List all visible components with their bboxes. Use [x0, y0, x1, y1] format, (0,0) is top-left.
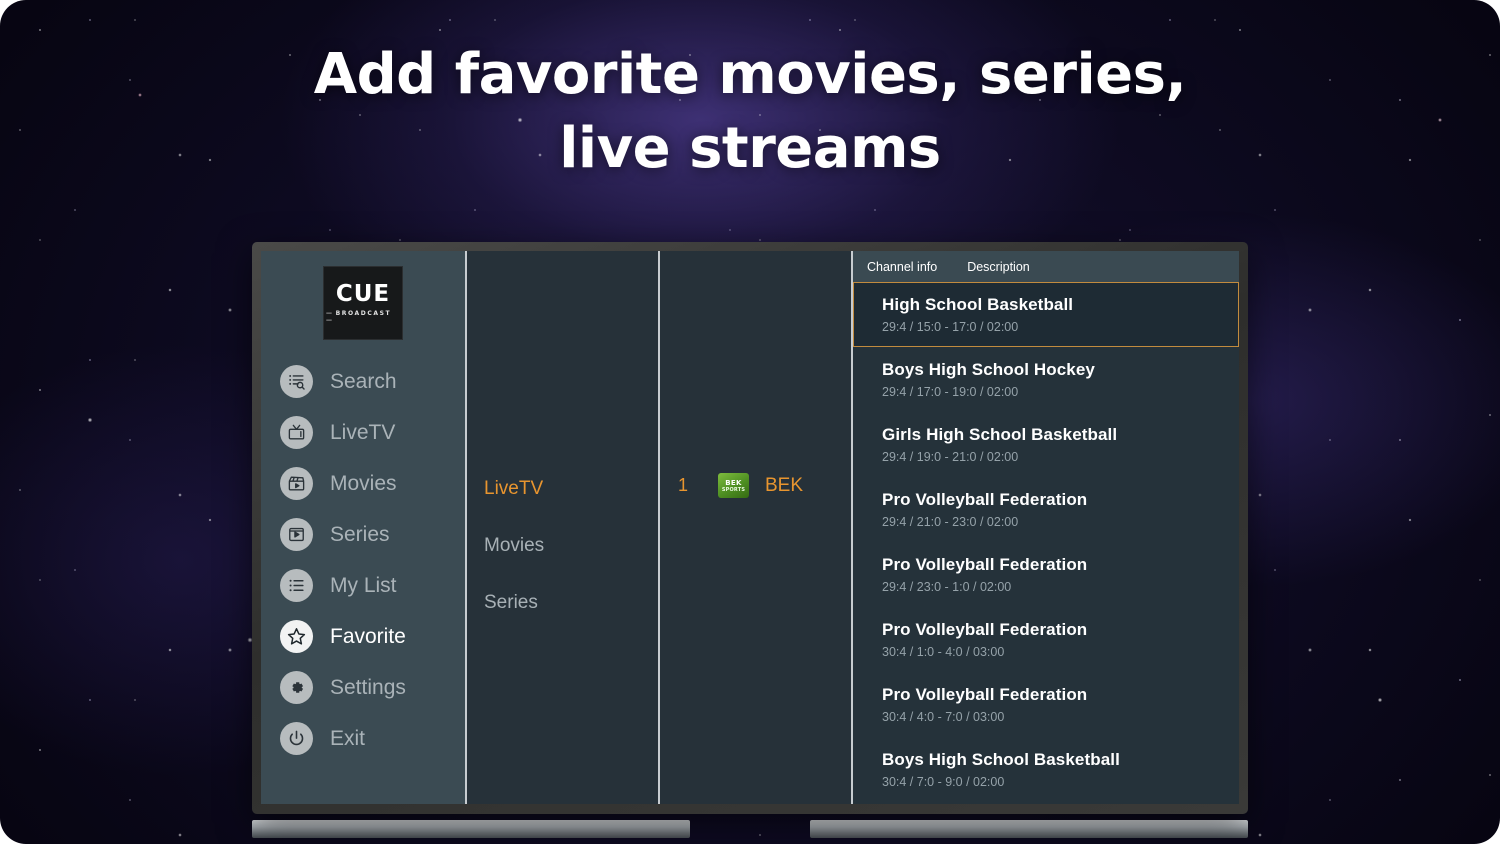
epg-program-title: Boys High School Hockey — [882, 360, 1238, 380]
category-column: LiveTV Movies Series — [467, 251, 660, 804]
epg-program-title: Pro Volleyball Federation — [882, 490, 1238, 510]
epg-program-list[interactable]: High School Basketball 29:4 / 15:0 - 17:… — [853, 282, 1239, 804]
epg-program-row[interactable]: Boys High School Basketball 30:4 / 7:0 -… — [853, 737, 1239, 802]
tab-description[interactable]: Description — [967, 260, 1030, 274]
star-icon — [280, 620, 313, 653]
headline-line-1: Add favorite movies, series, — [0, 38, 1500, 112]
epg-program-times: 29:4 / 21:0 - 23:0 / 02:00 — [882, 515, 1238, 529]
epg-program-times: 29:4 / 15:0 - 17:0 / 02:00 — [882, 320, 1238, 334]
play-box-icon — [280, 518, 313, 551]
sidebar-item-label: Search — [330, 370, 397, 394]
epg-program-times: 30:4 / 7:0 - 9:0 / 02:00 — [882, 775, 1238, 789]
epg-program-title: High School Basketball — [882, 295, 1238, 315]
epg-program-title: Pro Volleyball Federation — [882, 620, 1238, 640]
epg-program-row[interactable]: High School Basketball 29:4 / 15:0 - 17:… — [853, 282, 1239, 347]
sidebar-item-label: Series — [330, 523, 390, 547]
sidebar-item-favorite[interactable]: Favorite — [261, 611, 465, 662]
epg-program-title: Pro Volleyball Federation — [882, 685, 1238, 705]
epg-program-title: Girls High School Basketball — [882, 425, 1238, 445]
channel-row[interactable]: 1 BEK SPORTS BEK — [660, 473, 851, 498]
category-label: LiveTV — [484, 478, 543, 499]
category-label: Series — [484, 592, 538, 613]
epg-program-row[interactable]: Pro Volleyball Federation 30:4 / 4:0 - 7… — [853, 672, 1239, 737]
app-logo: CUE BROADCAST — [323, 266, 403, 340]
channel-logo-line-2: SPORTS — [722, 487, 745, 493]
tv-device: CUE BROADCAST — [252, 242, 1248, 814]
sidebar-item-label: Favorite — [330, 625, 406, 649]
logo-brand-text: CUE — [336, 283, 390, 306]
epg-program-row[interactable]: Girls High School Basketball 29:4 / 19:0… — [853, 412, 1239, 477]
tv-stand-right — [810, 820, 1248, 838]
epg-program-row[interactable]: Pro Volleyball Federation 30:4 / 1:0 - 4… — [853, 607, 1239, 672]
channel-logo-line-1: BEK — [725, 479, 741, 487]
channel-column: 1 BEK SPORTS BEK — [660, 251, 853, 804]
sidebar-item-movies[interactable]: Movies — [261, 458, 465, 509]
epg-program-times: 29:4 / 23:0 - 1:0 / 02:00 — [882, 580, 1238, 594]
category-item-movies[interactable]: Movies — [484, 535, 544, 557]
category-label: Movies — [484, 535, 544, 556]
sidebar-item-livetv[interactable]: LiveTV — [261, 407, 465, 458]
tv-screen: CUE BROADCAST — [261, 251, 1239, 804]
sidebar-item-my-list[interactable]: My List — [261, 560, 465, 611]
sidebar-item-label: LiveTV — [330, 421, 395, 445]
headline-line-2: live streams — [0, 112, 1500, 186]
sidebar-item-label: Settings — [330, 676, 406, 700]
sidebar-item-label: Exit — [330, 727, 365, 751]
channel-logo: BEK SPORTS — [718, 473, 749, 498]
gear-icon — [280, 671, 313, 704]
epg-tab-bar: Channel info Description — [853, 251, 1239, 282]
epg-program-row[interactable]: Boys High School Hockey 29:4 / 17:0 - 19… — [853, 347, 1239, 412]
epg-program-row[interactable]: Pro Volleyball Federation 29:4 / 21:0 - … — [853, 477, 1239, 542]
search-list-icon — [280, 365, 313, 398]
epg-program-title: Boys High School Basketball — [882, 750, 1238, 770]
channel-name: BEK — [765, 475, 803, 497]
power-icon — [280, 722, 313, 755]
promo-stage: Add favorite movies, series, live stream… — [0, 0, 1500, 844]
epg-panel: Channel info Description High School Bas… — [853, 251, 1239, 804]
television-icon — [280, 416, 313, 449]
tv-stand — [252, 814, 1248, 844]
epg-program-times: 30:4 / 1:0 - 4:0 / 03:00 — [882, 645, 1238, 659]
epg-program-row[interactable]: Pro Volleyball Federation 29:4 / 23:0 - … — [853, 542, 1239, 607]
promo-headline: Add favorite movies, series, live stream… — [0, 38, 1500, 186]
channel-number: 1 — [678, 475, 704, 496]
app-sidebar: CUE BROADCAST — [261, 251, 467, 804]
epg-program-times: 30:4 / 4:0 - 7:0 / 03:00 — [882, 710, 1238, 724]
sidebar-item-series[interactable]: Series — [261, 509, 465, 560]
epg-program-times: 29:4 / 19:0 - 21:0 / 02:00 — [882, 450, 1238, 464]
list-icon — [280, 569, 313, 602]
sidebar-item-exit[interactable]: Exit — [261, 713, 465, 764]
tv-stand-left — [252, 820, 690, 838]
tab-channel-info[interactable]: Channel info — [867, 260, 937, 274]
sidebar-item-settings[interactable]: Settings — [261, 662, 465, 713]
category-item-series[interactable]: Series — [484, 592, 538, 614]
epg-program-title: Pro Volleyball Federation — [882, 555, 1238, 575]
epg-program-times: 29:4 / 17:0 - 19:0 / 02:00 — [882, 385, 1238, 399]
category-item-livetv[interactable]: LiveTV — [484, 478, 543, 500]
sidebar-item-label: My List — [330, 574, 397, 598]
sidebar-item-label: Movies — [330, 472, 397, 496]
clapperboard-icon — [280, 467, 313, 500]
sidebar-item-search[interactable]: Search — [261, 356, 465, 407]
logo-tagline-text: BROADCAST — [324, 310, 402, 324]
